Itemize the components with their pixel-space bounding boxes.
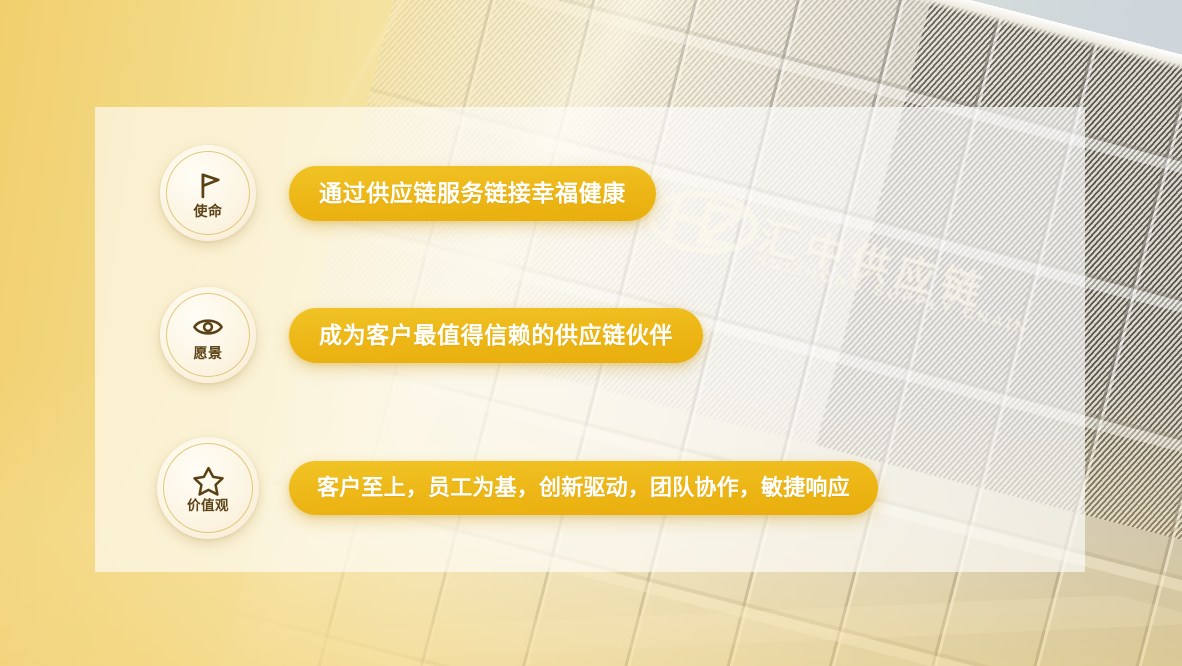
culture-banner: 汇中供应链 HUIZHONG SUPPLY CHAIN 使命 通过供应链服务链接…: [0, 0, 1182, 666]
pill-text-vision: 成为客户最值得信赖的供应链伙伴: [319, 324, 673, 347]
eye-icon: [191, 310, 225, 344]
pill-vision[interactable]: 成为客户最值得信赖的供应链伙伴: [289, 308, 703, 363]
pill-mission[interactable]: 通过供应链服务链接幸福健康: [289, 166, 656, 221]
culture-row-vision: 愿景 成为客户最值得信赖的供应链伙伴: [160, 287, 703, 383]
pill-values[interactable]: 客户至上，员工为基，创新驱动，团队协作，敏捷响应: [289, 461, 878, 515]
badge-label-mission: 使命: [194, 204, 223, 218]
culture-row-values: 价值观 客户至上，员工为基，创新驱动，团队协作，敏捷响应: [157, 437, 878, 539]
badge-label-values: 价值观: [187, 499, 229, 513]
badge-mission[interactable]: 使命: [160, 145, 256, 241]
culture-row-mission: 使命 通过供应链服务链接幸福健康: [160, 145, 656, 241]
badge-values[interactable]: 价值观: [157, 437, 259, 539]
badge-vision[interactable]: 愿景: [160, 287, 256, 383]
flag-icon: [191, 168, 225, 202]
pill-text-values: 客户至上，员工为基，创新驱动，团队协作，敏捷响应: [317, 477, 850, 499]
pill-text-mission: 通过供应链服务链接幸福健康: [319, 182, 626, 205]
culture-rows: 使命 通过供应链服务链接幸福健康 愿景 成为客户最值得信赖的供应链伙伴: [0, 0, 1182, 666]
star-icon: [192, 464, 225, 497]
badge-label-vision: 愿景: [194, 346, 223, 360]
